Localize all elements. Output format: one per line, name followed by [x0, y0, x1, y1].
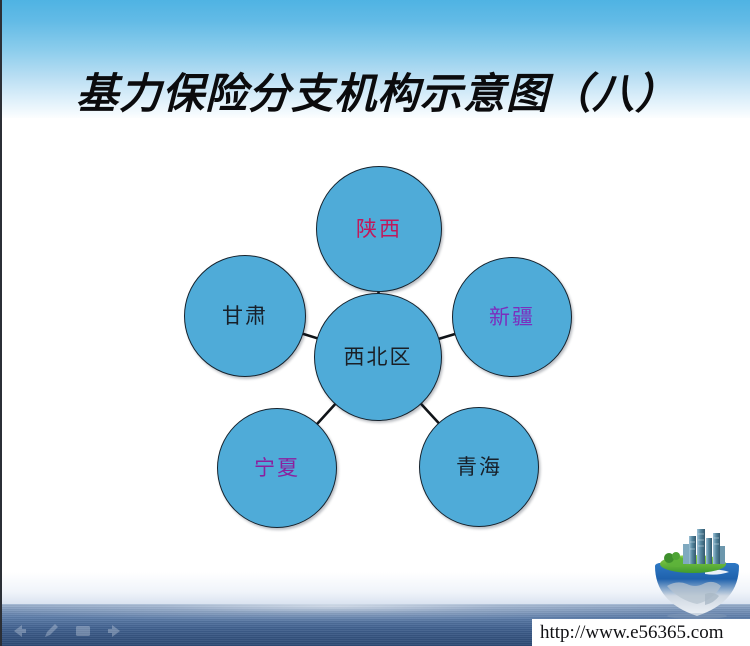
diagram-edge-center-to-xinjiang [438, 334, 455, 339]
slide-title: 基力保险分支机构示意图（八） [2, 60, 750, 121]
diagram-edge-center-to-ningxia [317, 404, 336, 425]
diagram-node-label-ningxia: 宁夏 [254, 458, 300, 479]
diagram-node-xinjiang[interactable]: 新疆 [452, 257, 572, 377]
earth-city-globe-logo [647, 524, 747, 620]
pen-tool-button[interactable] [42, 623, 60, 639]
diagram-node-label-xinjiang: 新疆 [489, 307, 535, 328]
website-url-box: http://www.e56365.com [532, 619, 750, 646]
next-slide-button[interactable] [106, 623, 124, 639]
presentation-slide: 基力保险分支机构示意图（八） 陕西新疆甘肃宁夏青海西北区 [0, 0, 750, 646]
diagram-edge-center-to-qinghai [421, 403, 439, 423]
slideshow-controls[interactable] [10, 620, 130, 642]
diagram-node-gansu[interactable]: 甘肃 [184, 255, 306, 377]
diagram-node-qinghai[interactable]: 青海 [419, 407, 539, 527]
slide-menu-button[interactable] [74, 623, 92, 639]
diagram-node-label-center: 西北区 [344, 347, 413, 368]
diagram-edge-center-to-gansu [302, 334, 317, 339]
diagram-node-shaanxi[interactable]: 陕西 [316, 166, 442, 292]
previous-slide-button[interactable] [10, 623, 28, 639]
diagram-node-center[interactable]: 西北区 [314, 293, 442, 421]
diagram-node-label-gansu: 甘肃 [222, 306, 268, 327]
website-url-text: http://www.e56365.com [540, 622, 723, 644]
diagram-node-label-shaanxi: 陕西 [356, 219, 402, 240]
diagram-node-ningxia[interactable]: 宁夏 [217, 408, 337, 528]
diagram-node-label-qinghai: 青海 [456, 457, 502, 478]
org-structure-diagram: 陕西新疆甘肃宁夏青海西北区 [182, 160, 582, 520]
